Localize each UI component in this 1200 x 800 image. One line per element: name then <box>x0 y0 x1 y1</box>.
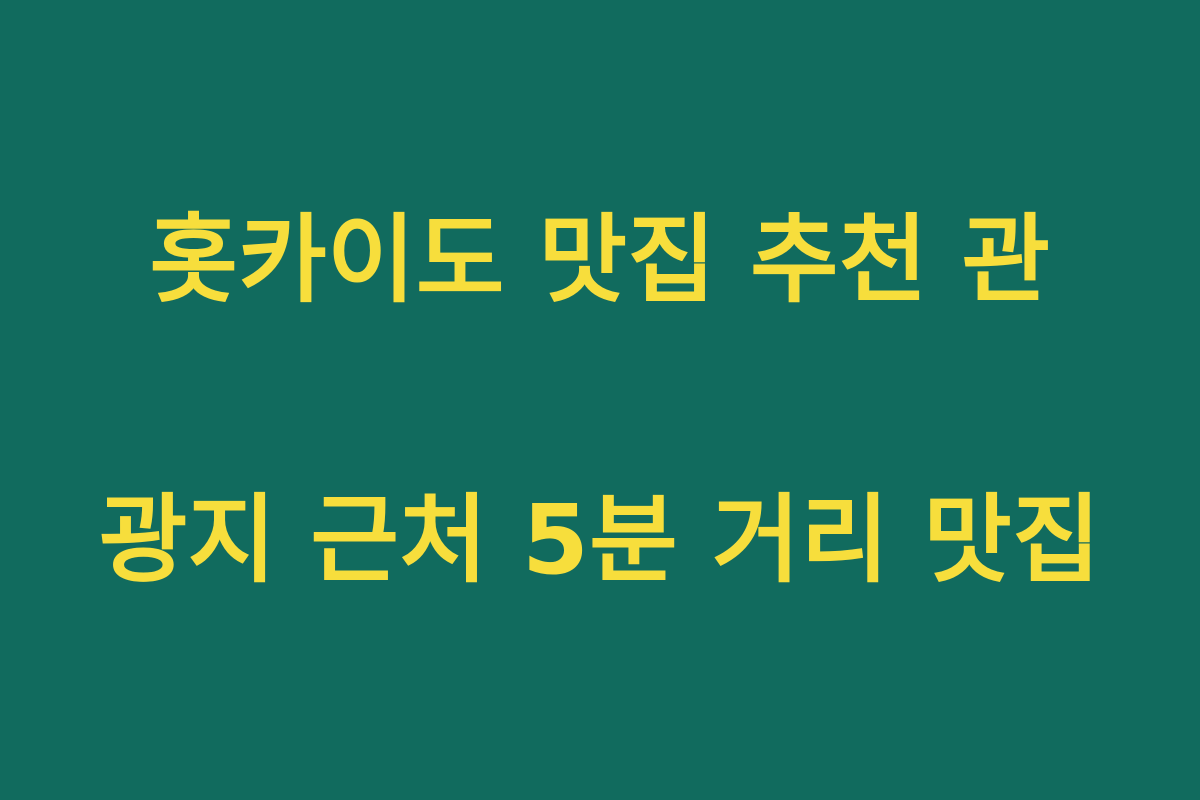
headline-line-1: 홋카이도 맛집 추천 관 <box>70 190 1130 330</box>
headline-text: 홋카이도 맛집 추천 관 광지 근처 5분 거리 맛집 <box>70 50 1130 751</box>
thumbnail-banner: 홋카이도 맛집 추천 관 광지 근처 5분 거리 맛집 <box>0 0 1200 800</box>
headline-line-2: 광지 근처 5분 거리 맛집 <box>70 470 1130 610</box>
